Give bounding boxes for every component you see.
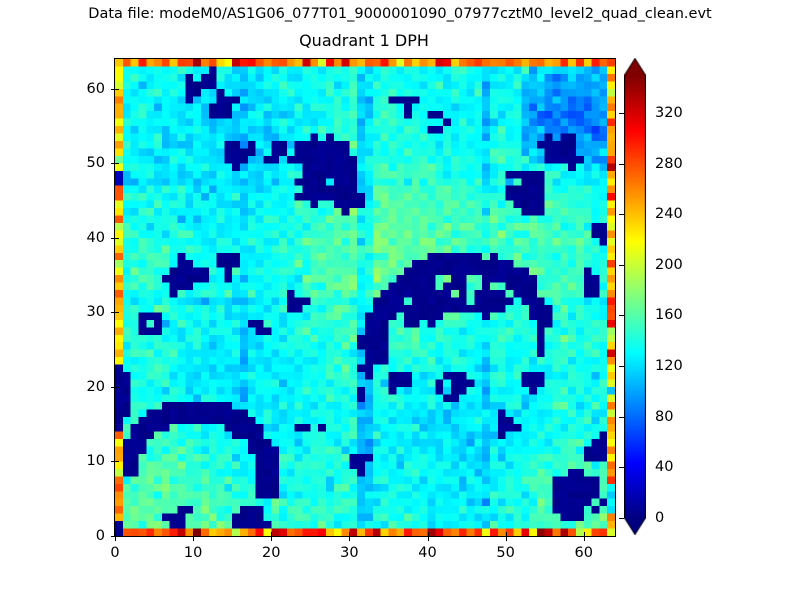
y-tick-mark-inner xyxy=(115,461,119,462)
y-tick-label: 50 xyxy=(87,155,105,171)
heatmap-image xyxy=(115,59,615,536)
x-tick-label: 50 xyxy=(496,545,514,561)
y-tick-mark-inner xyxy=(115,163,119,164)
x-tick-mark xyxy=(506,537,507,541)
colorbar-tick-mark xyxy=(619,366,624,367)
y-tick-label: 0 xyxy=(96,528,105,544)
heatmap-axes: 0102030405060 0102030405060 xyxy=(114,58,616,537)
data-file-label: Data file: modeM0/AS1G06_077T01_90000010… xyxy=(0,6,800,22)
x-tick-mark-inner xyxy=(428,532,429,536)
x-tick-label: 10 xyxy=(184,545,202,561)
y-tick-label: 40 xyxy=(87,230,105,246)
x-tick-label: 40 xyxy=(418,545,436,561)
x-tick-mark-inner xyxy=(193,532,194,536)
x-tick-mark-inner xyxy=(584,532,585,536)
colorbar-tick-mark xyxy=(619,214,624,215)
colorbar-tick-label: 280 xyxy=(655,156,683,172)
x-tick-mark xyxy=(115,537,116,541)
colorbar: 04080120160200240280320 xyxy=(624,58,646,535)
x-tick-mark xyxy=(271,537,272,541)
colorbar-tick-label: 80 xyxy=(655,409,673,425)
y-tick-label: 20 xyxy=(87,379,105,395)
y-tick-label: 60 xyxy=(87,81,105,97)
figure-canvas: Data file: modeM0/AS1G06_077T01_90000010… xyxy=(0,0,800,600)
x-tick-label: 60 xyxy=(575,545,593,561)
colorbar-tick-label: 40 xyxy=(655,459,673,475)
y-tick-mark-inner xyxy=(115,238,119,239)
colorbar-tick-label: 0 xyxy=(655,510,664,526)
colorbar-tick-label: 240 xyxy=(655,206,683,222)
y-tick-mark-inner xyxy=(115,312,119,313)
colorbar-tick-mark xyxy=(619,467,624,468)
x-tick-mark-inner xyxy=(349,532,350,536)
y-tick-label: 10 xyxy=(87,453,105,469)
colorbar-tick-mark xyxy=(619,164,624,165)
x-tick-label: 20 xyxy=(262,545,280,561)
colorbar-tick-label: 160 xyxy=(655,307,683,323)
colorbar-tick-label: 200 xyxy=(655,257,683,273)
colorbar-tick-label: 320 xyxy=(655,105,683,121)
y-tick-mark-inner xyxy=(115,89,119,90)
colorbar-tick-mark xyxy=(619,315,624,316)
colorbar-gradient xyxy=(624,58,646,535)
y-tick-label: 30 xyxy=(87,304,105,320)
colorbar-tick-mark xyxy=(619,265,624,266)
colorbar-tick-mark xyxy=(619,518,624,519)
x-tick-label: 0 xyxy=(110,545,119,561)
x-tick-label: 30 xyxy=(340,545,358,561)
page-title: Quadrant 1 DPH xyxy=(114,31,614,50)
x-tick-mark-inner xyxy=(271,532,272,536)
colorbar-tick-label: 120 xyxy=(655,358,683,374)
y-tick-mark-inner xyxy=(115,387,119,388)
x-tick-mark xyxy=(584,537,585,541)
colorbar-tick-mark xyxy=(619,417,624,418)
x-tick-mark xyxy=(193,537,194,541)
x-tick-mark-inner xyxy=(506,532,507,536)
colorbar-tick-mark xyxy=(619,113,624,114)
x-tick-mark xyxy=(428,537,429,541)
y-tick-mark-inner xyxy=(115,536,119,537)
x-tick-mark xyxy=(349,537,350,541)
